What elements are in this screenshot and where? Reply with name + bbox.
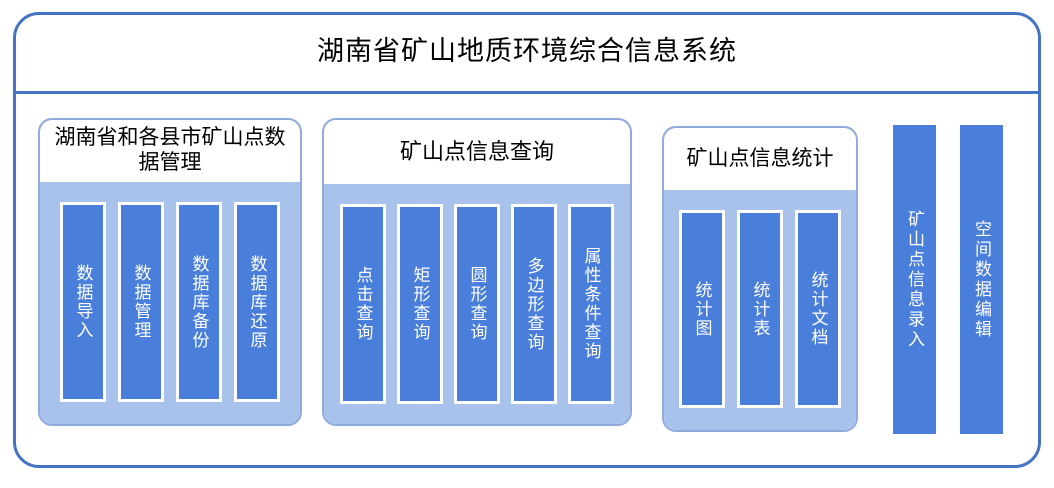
module-database-restore-label: 数据库还原 [249, 255, 266, 350]
module-database-backup[interactable]: 数据库备份 [176, 202, 222, 402]
module-database-backup-label: 数据库备份 [191, 255, 208, 350]
module-data-management-label: 数据管理 [133, 264, 150, 340]
diagram-canvas: 湖南省矿山地质环境综合信息系统 湖南省和各县市矿山点数据管理 数据导入 数据管理… [0, 0, 1054, 488]
module-data-management[interactable]: 数据管理 [118, 202, 164, 402]
module-mine-point-data-entry-label: 矿山点信息录入 [906, 210, 923, 350]
module-click-query[interactable]: 点击查询 [340, 204, 386, 404]
group-mine-point-query-body: 点击查询 矩形查询 圆形查询 多边形查询 属性条件查询 [324, 184, 630, 426]
page-title: 湖南省矿山地质环境综合信息系统 [317, 37, 737, 67]
group-data-management-header: 湖南省和各县市矿山点数据管理 [40, 120, 300, 182]
module-circle-query-label: 圆形查询 [469, 266, 486, 342]
module-click-query-label: 点击查询 [355, 266, 372, 342]
module-statistics-table-label: 统计表 [752, 281, 769, 338]
module-statistics-chart-label: 统计图 [694, 281, 711, 338]
module-statistics-document-label: 统计文档 [810, 271, 827, 347]
module-rectangle-query-label: 矩形查询 [412, 266, 429, 342]
module-attribute-condition-query[interactable]: 属性条件查询 [568, 204, 614, 404]
module-polygon-query[interactable]: 多边形查询 [511, 204, 557, 404]
group-mine-point-statistics-header: 矿山点信息统计 [664, 128, 856, 190]
module-circle-query[interactable]: 圆形查询 [454, 204, 500, 404]
group-mine-point-query[interactable]: 矿山点信息查询 点击查询 矩形查询 圆形查询 多边形查询 属性条件查询 [322, 118, 632, 426]
module-statistics-table[interactable]: 统计表 [737, 210, 783, 408]
module-rectangle-query[interactable]: 矩形查询 [397, 204, 443, 404]
group-data-management-body: 数据导入 数据管理 数据库备份 数据库还原 [40, 182, 300, 426]
module-spatial-data-edit[interactable]: 空间数据编辑 [960, 125, 1003, 434]
module-statistics-chart[interactable]: 统计图 [679, 210, 725, 408]
module-mine-point-data-entry[interactable]: 矿山点信息录入 [893, 125, 936, 434]
system-title-bar: 湖南省矿山地质环境综合信息系统 [13, 12, 1041, 92]
module-spatial-data-edit-label: 空间数据编辑 [973, 220, 990, 340]
group-mine-point-query-header: 矿山点信息查询 [324, 120, 630, 184]
group-data-management[interactable]: 湖南省和各县市矿山点数据管理 数据导入 数据管理 数据库备份 数据库还原 [38, 118, 302, 426]
module-data-import-label: 数据导入 [75, 264, 92, 340]
module-polygon-query-label: 多边形查询 [526, 257, 543, 352]
module-data-import[interactable]: 数据导入 [60, 202, 106, 402]
title-divider [13, 91, 1041, 94]
module-attribute-condition-query-label: 属性条件查询 [583, 247, 600, 361]
group-mine-point-statistics-body: 统计图 统计表 统计文档 [664, 190, 856, 432]
module-database-restore[interactable]: 数据库还原 [234, 202, 280, 402]
group-mine-point-statistics[interactable]: 矿山点信息统计 统计图 统计表 统计文档 [662, 126, 858, 432]
module-statistics-document[interactable]: 统计文档 [795, 210, 841, 408]
